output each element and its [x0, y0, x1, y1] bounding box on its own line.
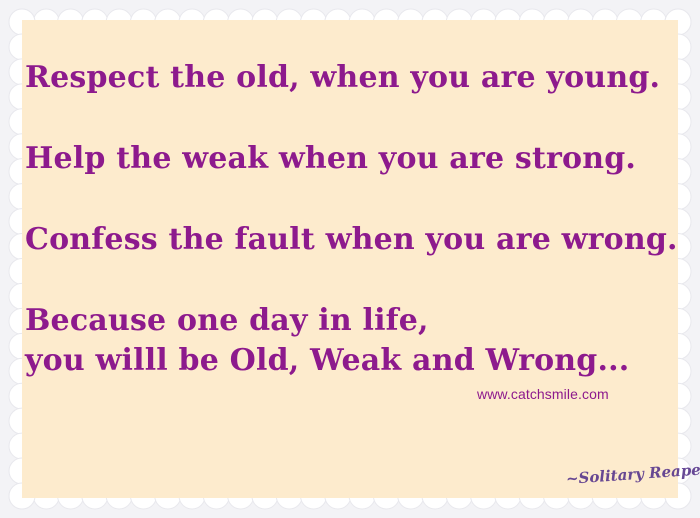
quote-line-2: Help the weak when you are strong. — [25, 139, 675, 179]
quote-line-1: Respect the old, when you are young. — [25, 58, 675, 98]
quote-line-3: Confess the fault when you are wrong. — [25, 220, 675, 260]
source-watermark: www.catchsmile.com — [477, 386, 609, 402]
quote-text-block: Respect the old, when you are young. Hel… — [25, 58, 675, 381]
quote-line-5: you willl be Old, Weak and Wrong... — [25, 341, 675, 381]
quote-poster: Respect the old, when you are young. Hel… — [0, 0, 700, 518]
quote-line-4: Because one day in life, — [25, 301, 675, 341]
